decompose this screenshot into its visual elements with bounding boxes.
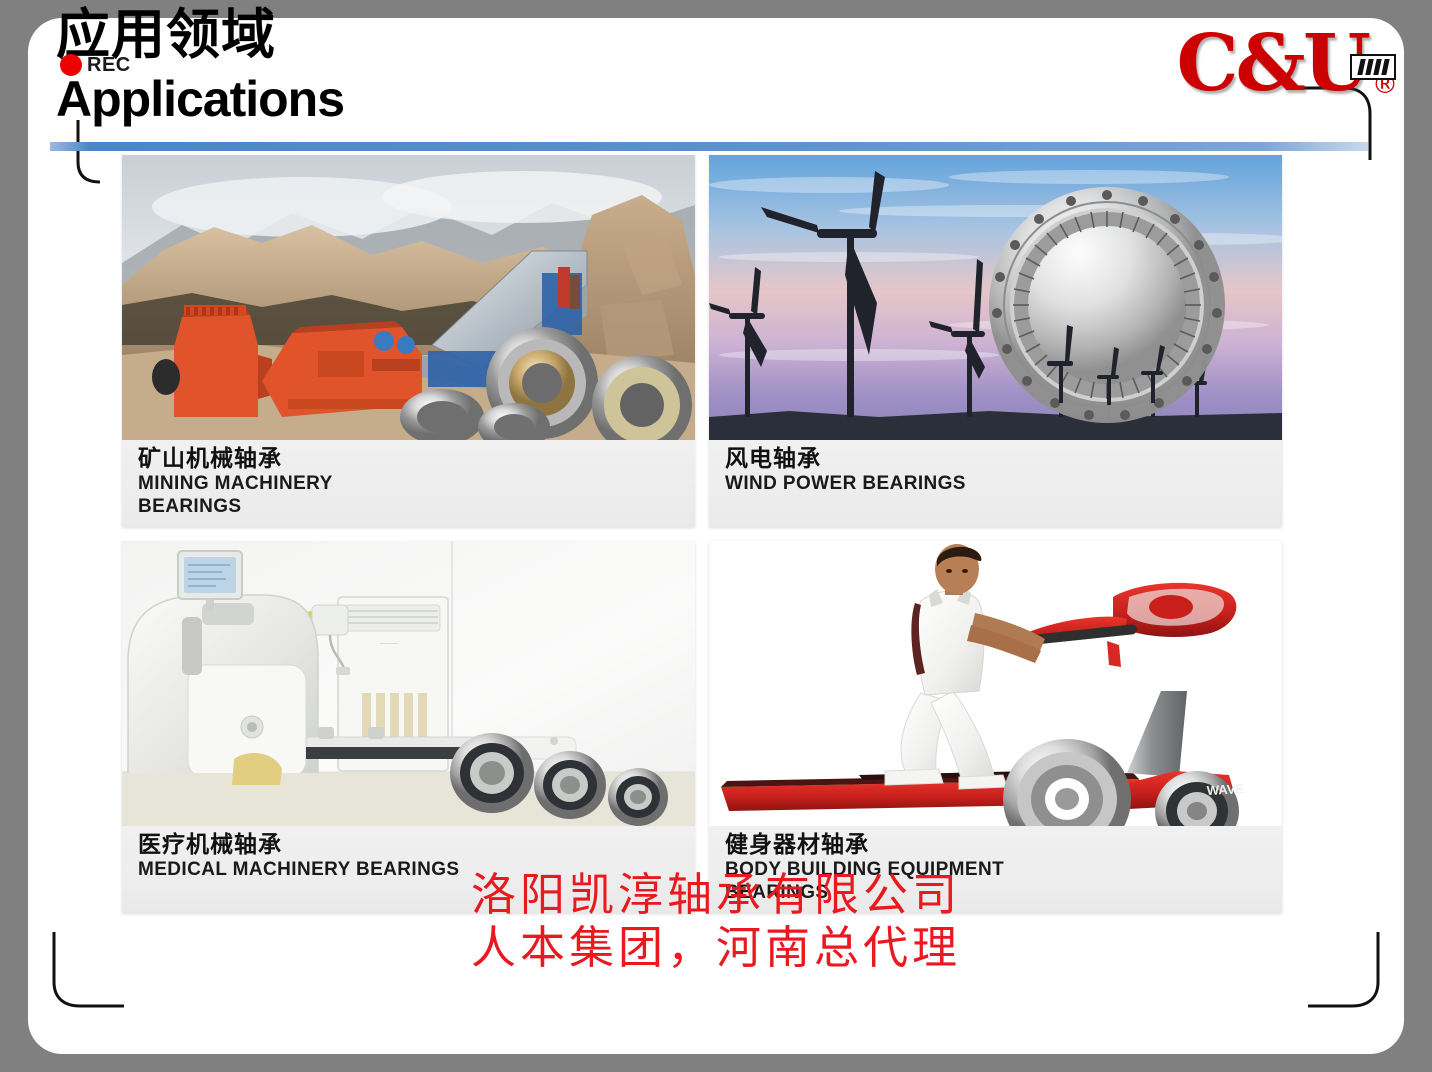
bodybuilding-photo-illustration: WAVE <box>709 541 1282 826</box>
brand-logo-text: C&U <box>1176 28 1368 100</box>
svg-text:WAVE: WAVE <box>1206 781 1244 798</box>
bodybuilding-title-en-line2: BEARINGS <box>725 882 1282 904</box>
application-card-mining[interactable]: 矿山机械轴承 MINING MACHINERY BEARINGS <box>122 155 695 527</box>
page-title-en: Applications <box>56 74 344 124</box>
record-dot-icon <box>60 54 82 76</box>
slide-header: 应用领域 Applications REC C&U ® <box>0 0 1432 170</box>
mining-title-cn: 矿山机械轴承 <box>138 446 695 473</box>
mining-caption: 矿山机械轴承 MINING MACHINERY BEARINGS <box>122 440 695 527</box>
wind-power-photo <box>709 155 1282 440</box>
slide-root: 矿山机械轴承 MINING MACHINERY BEARINGS <box>0 0 1432 1072</box>
wind-power-title-en-line1: WIND POWER BEARINGS <box>725 473 1282 495</box>
recording-indicator: REC <box>60 54 131 76</box>
brand-logo[interactable]: C&U ® <box>1176 28 1398 100</box>
bodybuilding-caption: 健身器材轴承 BODY BUILDING EQUIPMENT BEARINGS <box>709 826 1282 913</box>
application-card-bodybuilding[interactable]: WAVE 健身器材轴承 BODY BUILDING EQUIPMENT BEAR… <box>709 541 1282 913</box>
application-card-medical[interactable]: ——— <box>122 541 695 913</box>
brand-logo-bars-icon <box>1350 54 1396 80</box>
mining-photo <box>122 155 695 440</box>
wind-power-title-cn: 风电轴承 <box>725 446 1282 473</box>
wind-power-caption: 风电轴承 WIND POWER BEARINGS <box>709 440 1282 527</box>
medical-photo-illustration: ——— <box>122 541 695 826</box>
svg-text:———: ——— <box>380 641 398 647</box>
recording-label: REC <box>87 55 131 75</box>
wind-power-photo-illustration <box>709 155 1282 440</box>
bodybuilding-photo: WAVE <box>709 541 1282 826</box>
title-underline-rule <box>50 142 1368 151</box>
application-card-wind-power[interactable]: 风电轴承 WIND POWER BEARINGS <box>709 155 1282 527</box>
medical-title-en-line1: MEDICAL MACHINERY BEARINGS <box>138 859 695 881</box>
medical-title-cn: 医疗机械轴承 <box>138 832 695 859</box>
medical-photo: ——— <box>122 541 695 826</box>
medical-caption: 医疗机械轴承 MEDICAL MACHINERY BEARINGS <box>122 826 695 913</box>
bodybuilding-title-en-line1: BODY BUILDING EQUIPMENT <box>725 859 1282 881</box>
bodybuilding-title-cn: 健身器材轴承 <box>725 832 1282 859</box>
mining-photo-illustration <box>122 155 695 440</box>
mining-title-en-line2: BEARINGS <box>138 496 695 518</box>
mining-title-en-line1: MINING MACHINERY <box>138 473 695 495</box>
applications-card-grid: 矿山机械轴承 MINING MACHINERY BEARINGS <box>122 155 1282 913</box>
